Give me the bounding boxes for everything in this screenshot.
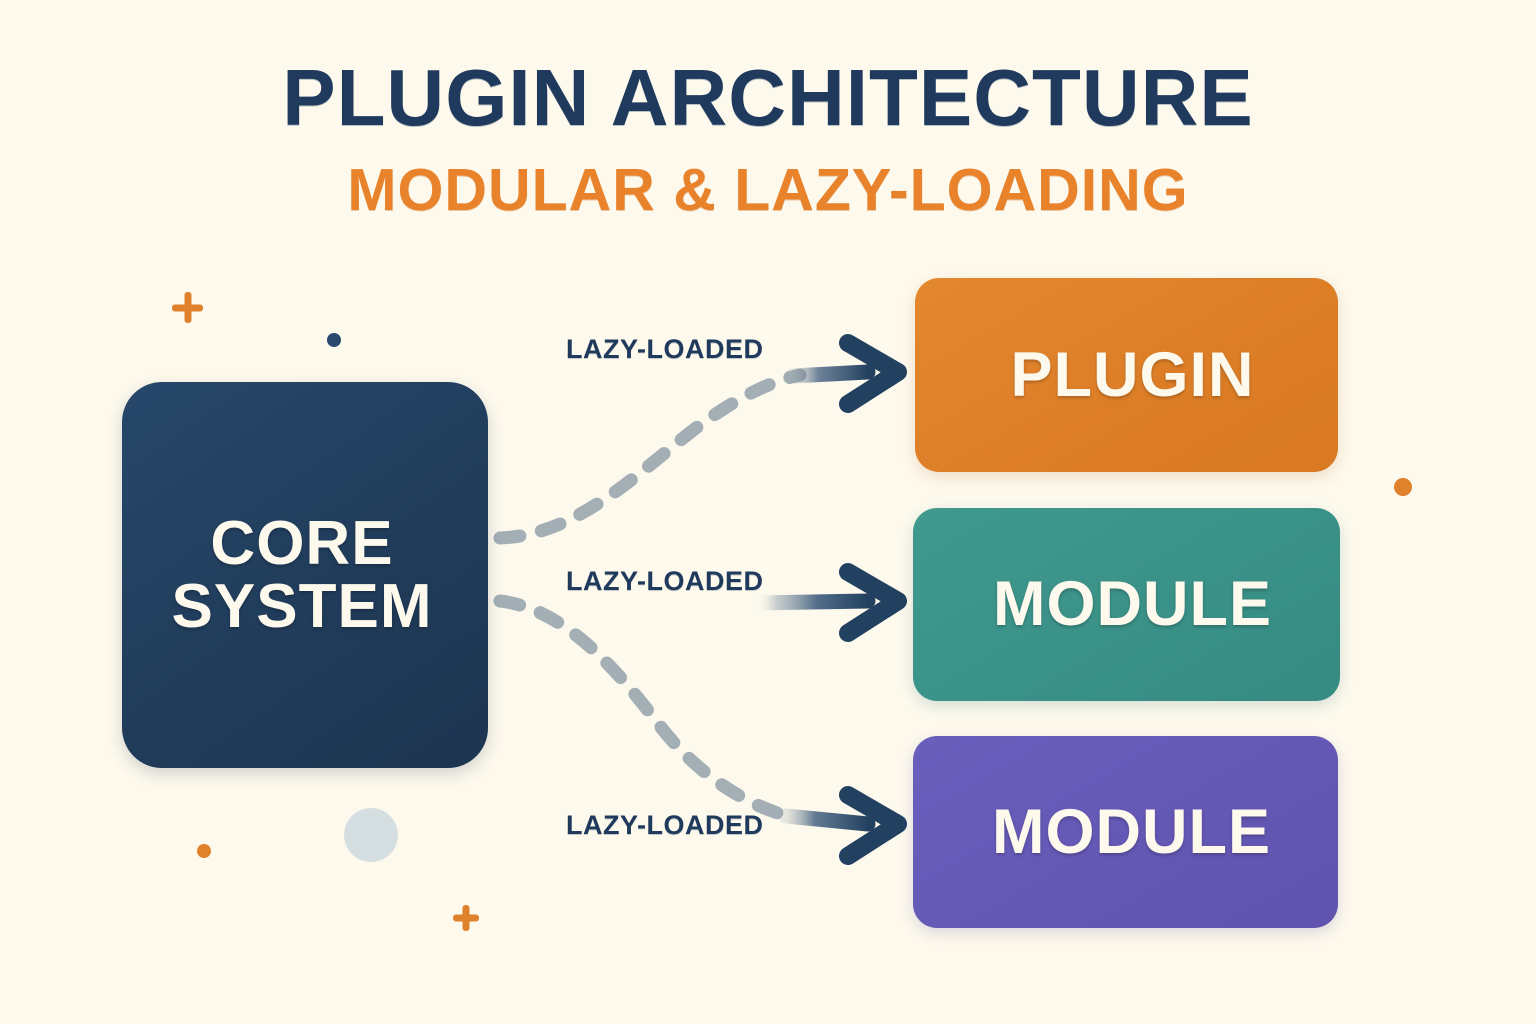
arrow-head-module-a [848, 572, 898, 633]
page-subtitle: MODULAR & LAZY-LOADING [0, 161, 1536, 220]
module-a-label: MODULE [993, 572, 1272, 636]
plugin-label: PLUGIN [1010, 343, 1254, 407]
edge-label-module-b: LAZY-LOADED [566, 810, 764, 841]
decorative-dot-orange-right-icon [1394, 478, 1412, 496]
module-b-node[interactable]: MODULE [913, 736, 1338, 928]
edge-core-to-plugin [500, 343, 898, 538]
edge-core-to-module-a [756, 572, 898, 633]
decorative-plus-bottom-icon [453, 905, 479, 931]
decorative-dot-orange-left-icon [197, 844, 211, 858]
dashed-curve-module-b [500, 601, 792, 817]
arrow-shaft-plugin [792, 372, 868, 376]
core-system-node[interactable]: CORE SYSTEM [122, 382, 488, 768]
decorative-circle-gray-icon [344, 808, 398, 862]
core-system-label: CORE SYSTEM [116, 512, 488, 638]
arrow-shaft-module-b [786, 816, 868, 824]
diagram-canvas: PLUGIN ARCHITECTURE MODULAR & LAZY-LOADI… [0, 0, 1536, 1024]
decorative-plus-icon [172, 292, 203, 323]
arrow-shaft-module-a [756, 601, 868, 603]
module-a-node[interactable]: MODULE [913, 508, 1340, 701]
edge-label-module-a: LAZY-LOADED [566, 566, 764, 597]
plugin-node[interactable]: PLUGIN [915, 278, 1338, 472]
decorative-dot-navy-icon [327, 333, 341, 347]
module-b-label: MODULE [992, 800, 1271, 864]
page-title: PLUGIN ARCHITECTURE [0, 58, 1536, 138]
dashed-curve-plugin [500, 375, 800, 538]
arrow-head-plugin [848, 343, 898, 404]
arrow-head-module-b [848, 795, 898, 856]
edge-label-plugin: LAZY-LOADED [566, 334, 764, 365]
